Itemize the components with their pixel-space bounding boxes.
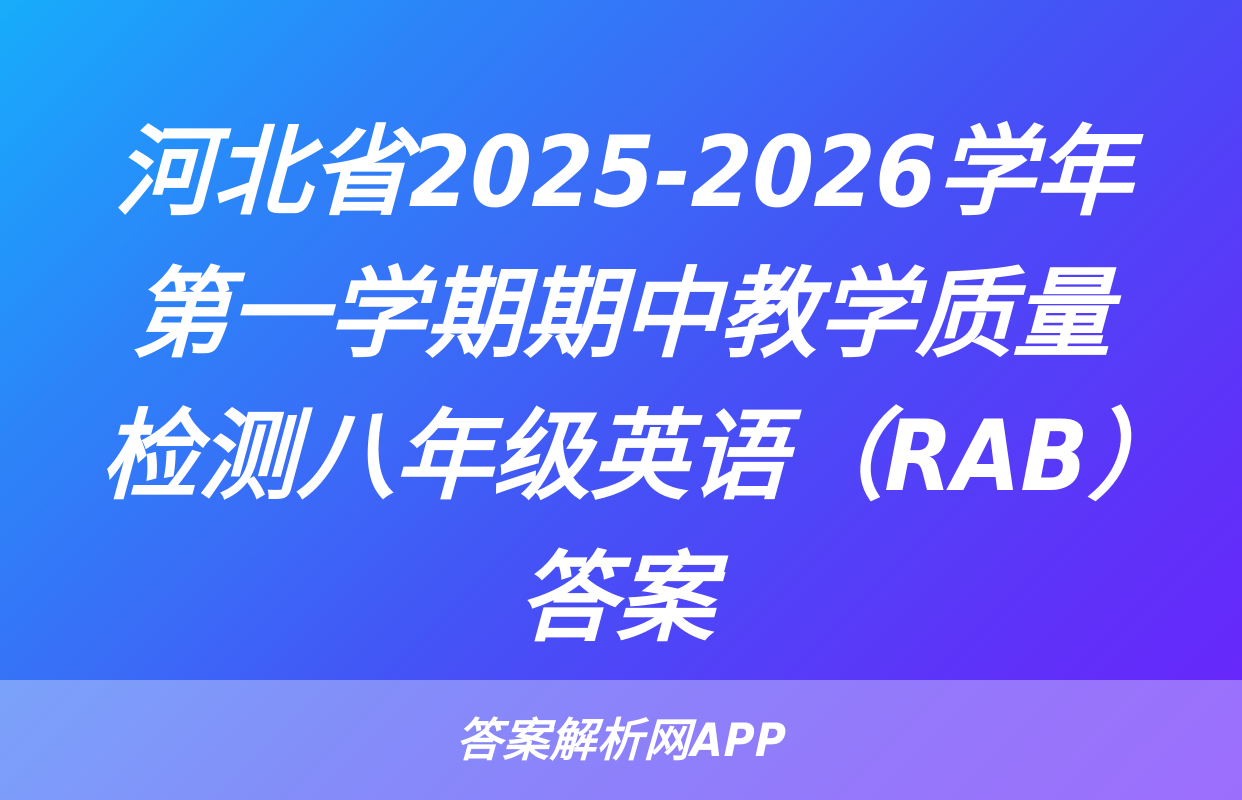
brand-watermark: 答案解析网APP [455,714,788,766]
headline-block: 河北省2025-2026学年第一学期期中教学质量检测八年级英语（RAB）答案 [0,0,1242,680]
poster-canvas: 河北省2025-2026学年第一学期期中教学质量检测八年级英语（RAB）答案 答… [0,0,1242,800]
footer-brand-band: 答案解析网APP [0,680,1242,800]
page-title: 河北省2025-2026学年第一学期期中教学质量检测八年级英语（RAB）答案 [95,0,1147,670]
